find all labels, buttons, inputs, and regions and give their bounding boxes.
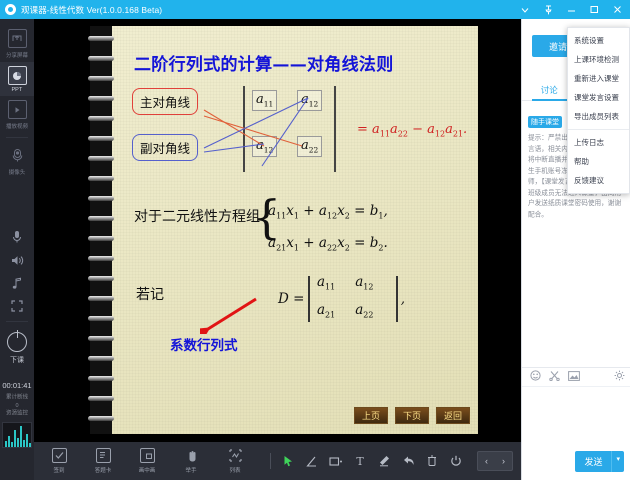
red-arrow-icon — [200, 296, 260, 334]
matrix-cell-12: a12 — [297, 90, 322, 111]
answer-card-icon — [96, 448, 111, 463]
text-icon[interactable]: T — [353, 454, 367, 468]
end-class-button[interactable]: 下课 — [7, 332, 27, 365]
prev-page-button[interactable]: 上页 — [354, 407, 388, 424]
menu-item-feedback[interactable]: 反馈建议 — [568, 171, 629, 190]
menu-item-help[interactable]: 帮助 — [568, 152, 629, 171]
share-screen-icon — [8, 29, 27, 48]
sub-diagonal-callout: 副对角线 — [132, 134, 198, 161]
matrix-cell-21: a12 — [252, 136, 277, 157]
pager-next-button[interactable]: › — [495, 452, 512, 470]
left-sidebar: 分享屏幕 PPT 播放视频 摄像头 下课 00:01:41 — [0, 19, 34, 480]
coefficient-determinant-label: 系数行列式 — [170, 334, 238, 354]
slide-nav-buttons: 上页 下页 返回 — [354, 407, 470, 424]
window-title: 观课器-线性代数 Ver(1.0.0.168 Beta) — [21, 4, 162, 16]
slide-pager: ‹ › — [477, 451, 513, 471]
d-comma: , — [401, 291, 405, 307]
matrix-cell-22: a22 — [297, 136, 322, 157]
disconnect-stat: 累计断线 0 资源监控 — [6, 394, 28, 418]
power-icon[interactable] — [449, 454, 463, 468]
scissors-icon[interactable] — [549, 370, 560, 384]
rectangle-icon[interactable] — [329, 454, 343, 468]
d-symbol: D = — [278, 291, 304, 307]
answer-card-button[interactable]: 答题卡 — [88, 448, 118, 474]
window-controls — [519, 3, 630, 17]
cursor-icon[interactable] — [281, 454, 295, 468]
menu-item-system-settings[interactable]: 系统设置 — [568, 31, 629, 50]
sidebar-label-ppt: PPT — [12, 87, 23, 93]
picture-in-picture-label: 画中画 — [139, 465, 156, 473]
drawing-tools: T ‹ › — [270, 451, 521, 471]
sign-in-icon — [52, 448, 67, 463]
power-end-class-icon — [7, 332, 27, 352]
fullscreen-icon[interactable] — [0, 295, 34, 317]
resource-monitor-label: 资源监控 — [6, 411, 28, 417]
menu-item-environment-check[interactable]: 上课环境检测 — [568, 50, 629, 69]
chat-input-toolbar — [522, 367, 630, 387]
play-video-icon — [8, 100, 27, 119]
list-button[interactable]: 列表 — [220, 448, 250, 474]
app-logo-icon — [5, 4, 16, 15]
diagonal-rule-equation: = a11a22 − a12a21. — [357, 122, 467, 139]
menu-item-speech-settings[interactable]: 课堂发言设置 — [568, 88, 629, 107]
sidebar-label-camera: 摄像头 — [9, 167, 26, 175]
determinant-left-bar — [243, 86, 245, 172]
send-options-caret-icon[interactable]: ▾ — [611, 451, 624, 472]
camera-icon — [8, 146, 27, 165]
class-timer: 00:01:41 — [2, 381, 31, 390]
slide-canvas[interactable]: 二阶行列式的计算——对角线法则 主对角线 副对角线 a11 a12 a12 a2… — [90, 26, 478, 434]
send-controls: 发送 ▾ — [575, 451, 624, 472]
maximize-icon[interactable] — [588, 3, 600, 17]
presentation-stage: 二阶行列式的计算——对角线法则 主对角线 副对角线 a11 a12 a12 a2… — [34, 19, 521, 442]
list-icon — [228, 448, 243, 463]
sidebar-divider — [6, 137, 28, 138]
microphone-icon[interactable] — [0, 225, 34, 249]
sidebar-item-play-video[interactable]: 播放视频 — [0, 96, 34, 133]
menu-separator — [568, 129, 629, 130]
undo-icon[interactable] — [401, 454, 415, 468]
network-graph-icon — [2, 422, 32, 448]
raise-hand-icon — [184, 448, 199, 463]
disconnect-stat-label: 累计断线 — [6, 395, 28, 401]
minimize-icon[interactable] — [565, 3, 577, 17]
next-page-button[interactable]: 下页 — [395, 407, 429, 424]
sidebar-divider-2 — [6, 321, 28, 322]
picture-in-picture-icon — [140, 448, 155, 463]
send-button[interactable]: 发送 — [575, 451, 611, 472]
settings-dropdown-menu: 系统设置 上课环境检测 重新进入课堂 课堂发言设置 导出成员列表 上传日志 帮助… — [567, 27, 630, 194]
sidebar-item-camera[interactable]: 摄像头 — [0, 142, 34, 179]
determinant-definition: D = a11 a12 a21 a22 , — [278, 271, 405, 326]
toolbar-separator — [270, 453, 271, 469]
emoji-icon[interactable] — [530, 370, 541, 384]
bottom-toolbar: 签到 答题卡 画中画 举手 列表 — [34, 442, 521, 480]
menu-item-rejoin-class[interactable]: 重新进入课堂 — [568, 69, 629, 88]
ruoji-label: 若记 — [136, 284, 164, 304]
system-label: 对于二元线性方程组 — [134, 206, 260, 226]
system-line-2: a21x1 + a22x2 = b2. — [268, 230, 388, 262]
end-class-label: 下课 — [10, 355, 24, 365]
system-equations: a11x1 + a12x2 = b1, a21x1 + a22x2 = b2. — [268, 198, 388, 261]
close-icon[interactable] — [611, 3, 623, 17]
return-button[interactable]: 返回 — [436, 407, 470, 424]
raise-hand-button[interactable]: 举手 — [176, 448, 206, 474]
determinant-right-bar — [334, 86, 336, 172]
list-label: 列表 — [229, 465, 240, 473]
ppt-icon — [8, 66, 27, 85]
pin-icon[interactable] — [542, 3, 554, 17]
raise-hand-label: 举手 — [185, 465, 196, 473]
image-icon[interactable] — [568, 371, 580, 384]
gear-icon[interactable] — [614, 370, 630, 384]
menu-item-export-members[interactable]: 导出成员列表 — [568, 107, 629, 126]
disconnect-stat-value: 0 — [15, 403, 18, 409]
bottom-toolbar-left: 签到 答题卡 画中画 举手 列表 — [34, 448, 250, 474]
sidebar-label-play-video: 播放视频 — [6, 121, 28, 129]
d-matrix: a11 a12 a21 a22 — [308, 271, 397, 326]
spiral-binding — [90, 26, 112, 434]
trash-icon[interactable] — [425, 454, 439, 468]
speaker-icon[interactable] — [0, 249, 34, 272]
main-diagonal-callout: 主对角线 — [132, 88, 198, 115]
sign-in-label: 签到 — [53, 465, 64, 473]
sidebar-item-ppt[interactable]: PPT — [0, 62, 34, 96]
slide-title: 二阶行列式的计算——对角线法则 — [134, 50, 394, 75]
angle-line-icon[interactable] — [305, 454, 319, 468]
chevron-down-icon[interactable] — [519, 3, 531, 17]
sidebar-label-share-screen: 分享屏幕 — [6, 50, 28, 58]
music-note-icon[interactable] — [0, 272, 34, 295]
answer-card-label: 答题卡 — [95, 465, 112, 473]
title-bar: 观课器-线性代数 Ver(1.0.0.168 Beta) — [0, 0, 630, 19]
menu-item-upload-log[interactable]: 上传日志 — [568, 133, 629, 152]
system-line-1: a11x1 + a12x2 = b1, — [268, 198, 388, 230]
matrix-cell-11: a11 — [252, 90, 277, 111]
eraser-icon[interactable] — [377, 454, 391, 468]
pager-prev-button[interactable]: ‹ — [478, 452, 495, 470]
slide-content: 二阶行列式的计算——对角线法则 主对角线 副对角线 a11 a12 a12 a2… — [112, 26, 478, 434]
sign-in-button[interactable]: 签到 — [44, 448, 74, 474]
picture-in-picture-button[interactable]: 画中画 — [132, 448, 162, 474]
sidebar-item-share-screen[interactable]: 分享屏幕 — [0, 25, 34, 62]
message-badge: 随手课堂 — [528, 116, 562, 128]
